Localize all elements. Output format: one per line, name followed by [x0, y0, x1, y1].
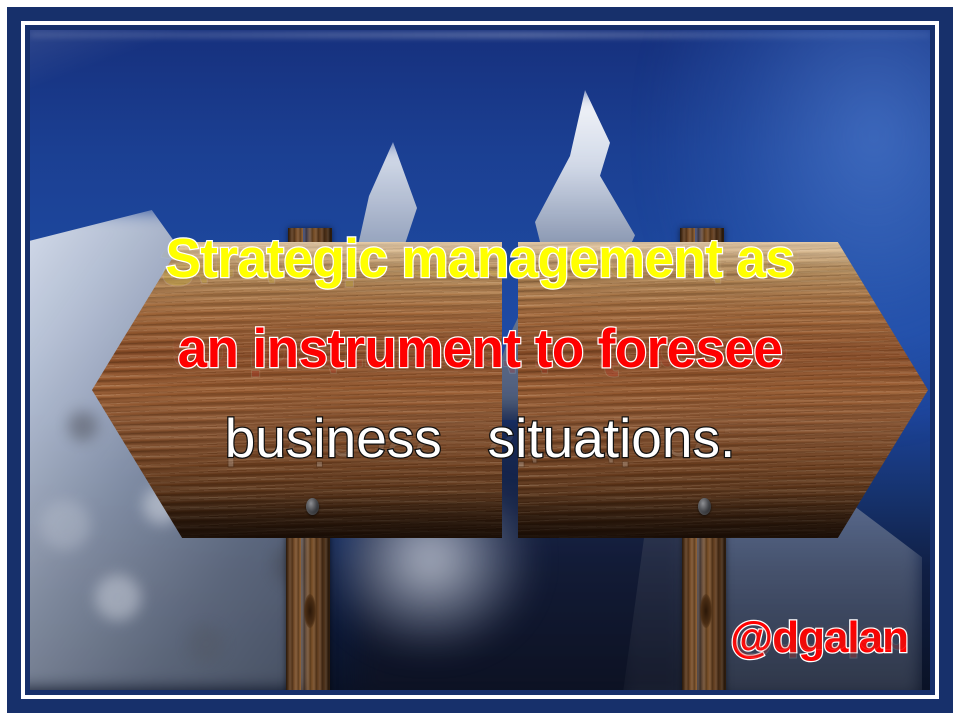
background-photo: Strategic management as Strategic manage… — [30, 30, 930, 690]
title-line-1: Strategic management as — [48, 226, 912, 290]
signature-block: @dgalan @dgalan — [730, 616, 908, 660]
title-line-3: business situations. — [30, 406, 930, 470]
slide-canvas: Strategic management as Strategic manage… — [0, 0, 960, 720]
title-text-layer: Strategic management as Strategic manage… — [30, 30, 930, 690]
title-line-2: an instrument to foresee — [48, 316, 912, 380]
signature-reflection: @dgalan — [730, 618, 908, 662]
